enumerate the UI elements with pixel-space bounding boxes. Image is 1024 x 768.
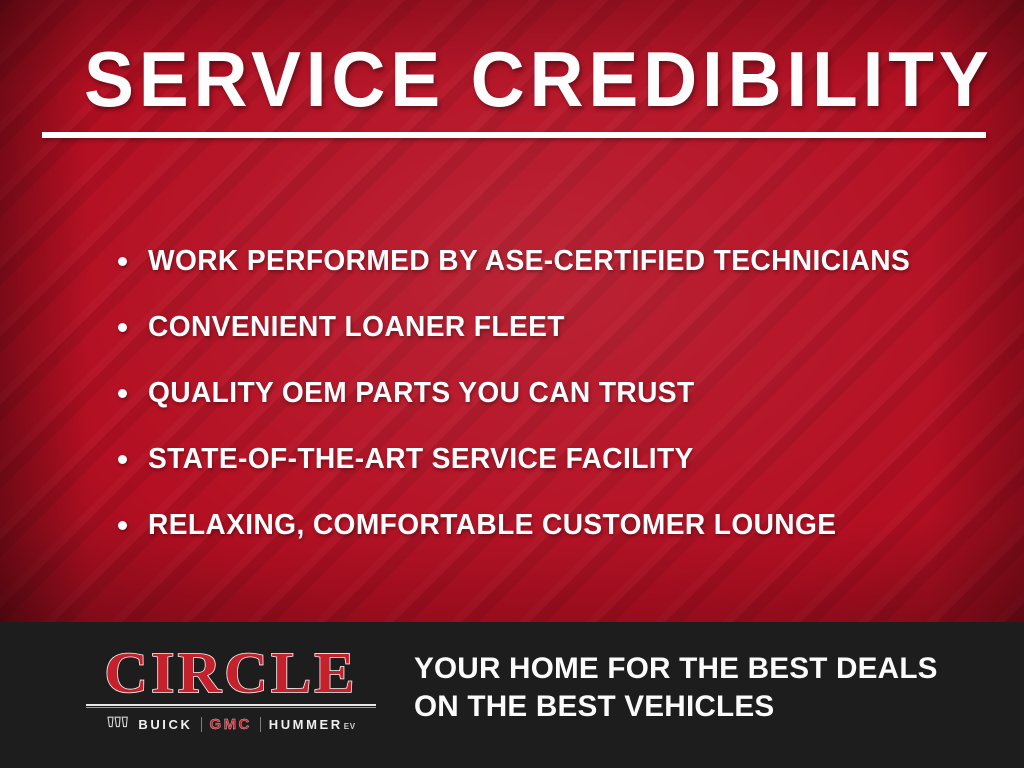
list-item-label: WORK PERFORMED BY ASE-CERTIFIED TECHNICI… [148, 245, 910, 278]
tagline-line-2: ON THE BEST VEHICLES [414, 688, 938, 726]
bullet-dot-icon [118, 323, 127, 332]
list-item: STATE-OF-THE-ART SERVICE FACILITY [118, 426, 998, 492]
tagline-line-1: YOUR HOME FOR THE BEST DEALS [414, 650, 938, 688]
list-item: WORK PERFORMED BY ASE-CERTIFIED TECHNICI… [118, 228, 998, 294]
logo-divider-line-bottom [86, 707, 376, 708]
bullet-dot-icon [118, 521, 127, 530]
footer-tagline: YOUR HOME FOR THE BEST DEALS ON THE BEST… [414, 650, 938, 726]
brand-label-buick: BUICK [138, 717, 192, 732]
brand-separator [201, 717, 202, 732]
brand-strip: BUICK GMC HUMMER EV [86, 715, 376, 734]
brand-label-hummer-group: HUMMER EV [269, 717, 356, 732]
dealer-logo[interactable]: CIRCLE BUICK GMC HUMMER EV [86, 645, 376, 734]
title-underline-rule [42, 132, 986, 138]
list-item: CONVENIENT LOANER FLEET [118, 294, 998, 360]
list-item-label: STATE-OF-THE-ART SERVICE FACILITY [148, 443, 694, 476]
brand-label-gmc: GMC [210, 716, 252, 733]
feature-bullet-list: WORK PERFORMED BY ASE-CERTIFIED TECHNICI… [118, 228, 998, 558]
service-credibility-slide: SERVICE CREDIBILITY WORK PERFORMED BY AS… [0, 0, 1024, 768]
list-item: QUALITY OEM PARTS YOU CAN TRUST [118, 360, 998, 426]
list-item-label: QUALITY OEM PARTS YOU CAN TRUST [148, 377, 695, 410]
brand-label-hummer-ev: EV [344, 722, 356, 731]
brand-label-hummer: HUMMER [269, 717, 343, 732]
buick-tri-shield-icon [106, 715, 130, 734]
list-item-label: CONVENIENT LOANER FLEET [148, 311, 565, 344]
bullet-dot-icon [118, 257, 127, 266]
list-item: RELAXING, COMFORTABLE CUSTOMER LOUNGE [118, 492, 998, 558]
page-title: SERVICE CREDIBILITY [84, 37, 993, 121]
list-item-label: RELAXING, COMFORTABLE CUSTOMER LOUNGE [148, 509, 836, 542]
bullet-dot-icon [118, 455, 127, 464]
bullet-dot-icon [118, 389, 127, 398]
brand-separator [260, 717, 261, 732]
dealer-wordmark: CIRCLE [80, 645, 382, 701]
